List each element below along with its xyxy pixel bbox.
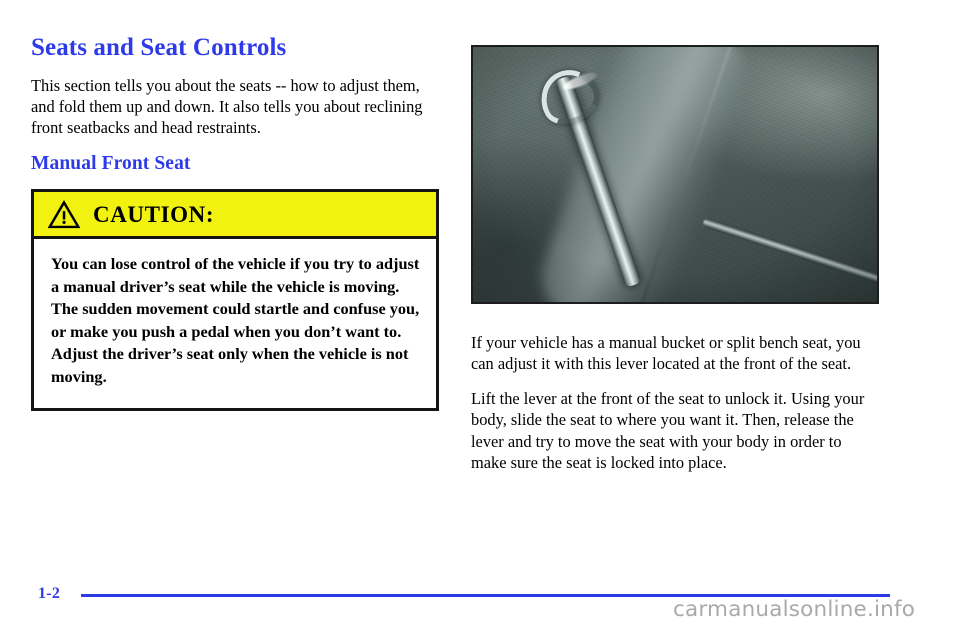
right-paragraph-2: Lift the lever at the front of the seat … [471,388,881,474]
section-subheading: Manual Front Seat [31,153,443,174]
seat-lever-photo [471,45,879,304]
right-paragraph-1: If your vehicle has a manual bucket or s… [471,332,881,375]
watermark: carmanualsonline.info [673,597,915,622]
caution-label: CAUTION: [93,203,214,226]
caution-body: You can lose control of the vehicle if y… [34,239,436,408]
page-number: 1-2 [38,585,60,603]
right-column-text: If your vehicle has a manual bucket or s… [471,332,881,473]
caution-box: CAUTION: You can lose control of the veh… [31,189,439,411]
left-column: Seats and Seat Controls This section tel… [31,34,443,174]
photo-vignette [473,47,877,302]
caution-text: You can lose control of the vehicle if y… [51,253,420,389]
manual-page: Seats and Seat Controls This section tel… [0,0,960,640]
page-title: Seats and Seat Controls [31,34,443,62]
page-footer: 1-2 carmanualsonline.info [0,580,960,640]
warning-triangle-icon [48,200,80,229]
caution-header: CAUTION: [34,192,436,239]
intro-paragraph: This section tells you about the seats -… [31,75,443,139]
photo-image [473,47,877,302]
